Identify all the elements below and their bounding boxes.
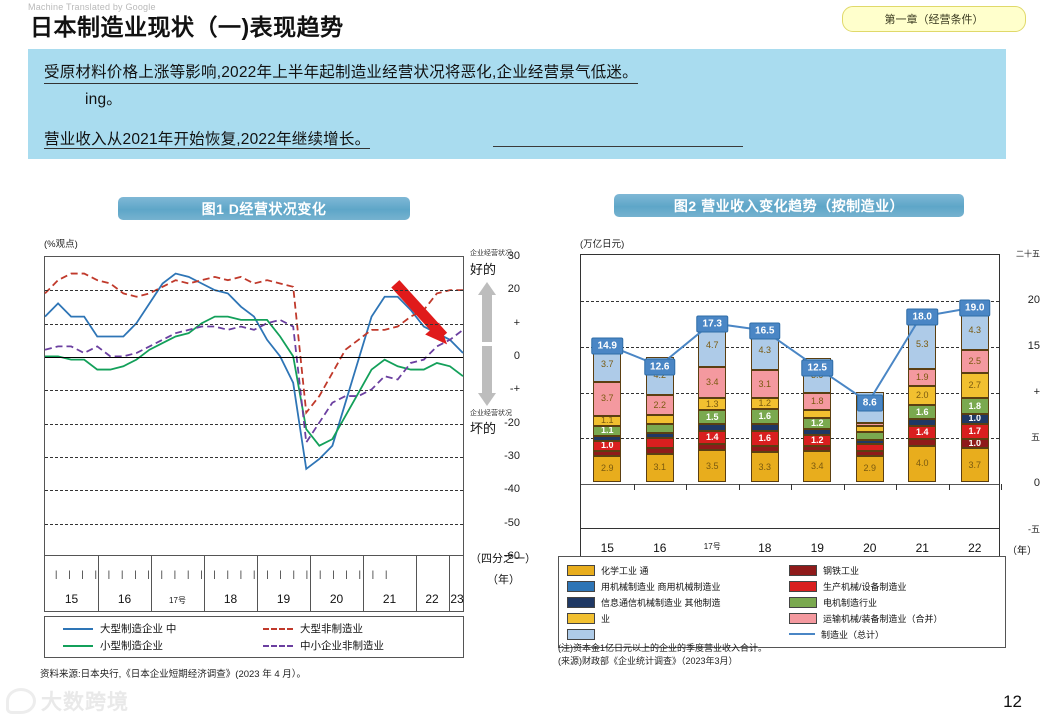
summary-underline-rule	[493, 146, 743, 147]
chart2-note-1: (注)资本金1亿日元以上的企业的季度营业收入合计。	[558, 642, 767, 655]
chart1-quarter-tick: |	[187, 569, 189, 579]
chart2-year-label: 15	[601, 541, 614, 555]
chart2-notes: (注)资本金1亿日元以上的企业的季度营业收入合计。 (来源)财政部《企业统计调查…	[558, 642, 767, 668]
legend-label: 大型制造企业 中	[100, 621, 176, 636]
summary-line-1: 受原材料价格上涨等影响,2022年上半年起制造业经营状况将恶化,企业经营景气低迷…	[44, 60, 638, 84]
chart1-year-label: 21	[383, 592, 396, 606]
chart1-quarter-tick: |	[279, 569, 281, 579]
chart1-quarter-tick: |	[121, 569, 123, 579]
chart1-gridline	[45, 324, 463, 325]
chart2-y-tick: 15	[998, 340, 1040, 352]
chart1-quarter-tick: |	[147, 569, 149, 579]
chart1-quarter-tick: |	[385, 569, 387, 579]
legend-swatch	[263, 628, 293, 630]
chart1-quarter-tick: |	[95, 569, 97, 579]
legend-swatch	[567, 565, 595, 576]
chart1-quarter-tick: |	[345, 569, 347, 579]
chart2-year-label: 16	[653, 541, 666, 555]
chart2-y-tick: 五	[998, 431, 1040, 444]
legend-label: 运输机械/装备制造业（合并）	[823, 612, 943, 625]
chart1-gridline	[45, 457, 463, 458]
chart2-legend-item: 制造业（总计）	[789, 628, 1005, 641]
chart2-year-label: 19	[811, 541, 824, 555]
chart1-year-separator	[151, 556, 152, 611]
chart1-quarter-tick: |	[332, 569, 334, 579]
chart1-year-unit: （年）	[487, 571, 520, 587]
chart1-quarter-tick: |	[266, 569, 268, 579]
chart2-year-unit: （年）	[1007, 542, 1037, 557]
chart1-y-tick: -50	[486, 517, 520, 529]
chart1-unit-label: (%观点)	[44, 236, 78, 250]
chart1-source: 资料来源:日本央行,《日本企业短期经济调查》(2023 年 4 月）。	[40, 666, 306, 680]
chart1-quarter-tick: |	[55, 569, 57, 579]
chart1-gridline	[45, 490, 463, 491]
legend-swatch	[567, 597, 595, 608]
chart1-quarter-tick: |	[293, 569, 295, 579]
chart1-quarter-tick: |	[108, 569, 110, 579]
chart1-plot-area	[44, 256, 464, 556]
chart1-x-axis: 151617号181920212223|||||||||||||||||||||…	[44, 556, 464, 612]
chart1-quarter-tick: |	[161, 569, 163, 579]
chart2-y-tick: -五	[998, 523, 1040, 536]
chart1-banner: 图1 D经营状况变化	[118, 197, 410, 220]
chart1-year-label: 17号	[169, 595, 186, 606]
chart1-gridline	[45, 390, 463, 391]
summary-box: 受原材料价格上涨等影响,2022年上半年起制造业经营状况将恶化,企业经营景气低迷…	[28, 49, 1006, 159]
watermark-icon	[6, 688, 36, 714]
chart2-y-tick: 20	[998, 294, 1040, 306]
chart1-quarter-tick: |	[319, 569, 321, 579]
chart2-unit-label: (万亿日元)	[580, 236, 624, 250]
chart2-y-tick: +	[998, 386, 1040, 398]
legend-swatch	[567, 613, 595, 624]
chart1-legend-item: 大型非制造业	[263, 621, 463, 636]
chart2-total-label: 14.9	[592, 337, 623, 354]
legend-label: 小型制造企业	[100, 638, 163, 653]
chart1-year-separator	[416, 556, 417, 611]
legend-swatch	[567, 629, 595, 640]
chart2-bar-chart: (万亿日元) 2.91.01.11.13.73.714.93.12.24.212…	[520, 228, 1040, 578]
chart2-legend-item: 业	[567, 612, 783, 625]
summary-line-3: 营业收入从2021年开始恢复,2022年继续增长。	[44, 127, 370, 149]
legend-swatch	[567, 581, 595, 592]
chart2-banner: 图2 营业收入变化趋势（按制造业）	[614, 194, 964, 217]
chart2-legend: 化学工业 通钢铁工业用机械制造业 商用机械制造业生产机械/设备制造业信息通信机械…	[558, 556, 1006, 648]
chart2-legend-item: 运输机械/装备制造业（合并）	[789, 612, 1005, 625]
chart1-year-label: 16	[118, 592, 131, 606]
legend-swatch	[789, 581, 817, 592]
chart1-quarter-tick: |	[372, 569, 374, 579]
chart1-legend-item: 中小企业非制造业	[263, 638, 463, 653]
chart2-note-2: (来源)财政部《企业统计调查》（2023年3月）	[558, 655, 767, 668]
legend-label: 钢铁工业	[823, 564, 859, 577]
arrow-down-icon	[478, 346, 496, 406]
chart1-quarter-tick: |	[134, 569, 136, 579]
legend-line-swatch	[789, 633, 815, 635]
chart1-year-separator	[257, 556, 258, 611]
summary-line-3-text: 营业收入从2021年开始恢复,2022年继续增长。	[44, 131, 370, 149]
chart1-bad-caption: 企业经营状况	[470, 410, 520, 418]
legend-label: 电机制造行业	[823, 596, 877, 609]
chart1-year-separator	[363, 556, 364, 611]
chart1-legend-item: 小型制造企业	[63, 638, 263, 653]
chart1-year-label: 15	[65, 592, 78, 606]
chart1-year-label: 19	[277, 592, 290, 606]
arrow-up-icon	[478, 282, 496, 342]
chart1-line-chart: (%观点) 3020+0-+-20-30-40-50-60 151617号181…	[0, 228, 520, 578]
chart2-total-label: 16.5	[749, 322, 780, 339]
chart1-quarter-tick: |	[81, 569, 83, 579]
chart2-total-label: 12.5	[802, 359, 833, 376]
summary-line-2: ing。	[85, 87, 122, 109]
chart2-year-label: 20	[863, 541, 876, 555]
chart2-total-label: 8.6	[857, 395, 883, 412]
chart1-direction-annotation: 企业经营状况 好的 企业经营状况 坏的	[470, 250, 520, 437]
chart1-quarter-tick: |	[240, 569, 242, 579]
legend-label: 中小企业非制造业	[300, 638, 384, 653]
chart2-legend-item: 钢铁工业	[789, 564, 1005, 577]
chart1-series-line	[45, 274, 463, 469]
legend-swatch	[63, 645, 93, 647]
legend-label: 用机械制造业 商用机械制造业	[601, 580, 721, 593]
chart2-year-label: 22	[968, 541, 981, 555]
chart1-bad-label: 坏的	[470, 418, 520, 437]
chart2-legend-item: 生产机械/设备制造业	[789, 580, 1005, 593]
chart1-quarter-tick: |	[68, 569, 70, 579]
chart1-quarter-tick: |	[306, 569, 308, 579]
legend-swatch	[789, 565, 817, 576]
chart1-year-separator	[98, 556, 99, 611]
chart2-total-label: 12.6	[644, 358, 675, 375]
chart1-quarter-tick: |	[227, 569, 229, 579]
chart2-total-label: 19.0	[959, 300, 990, 317]
chart2-year-label: 18	[758, 541, 771, 555]
page-number: 12	[1003, 692, 1022, 712]
chart1-good-caption: 企业经营状况	[470, 250, 520, 258]
chart2-plot-area: 2.91.01.11.13.73.714.93.12.24.212.63.51.…	[580, 254, 1000, 529]
chart2-legend-item: 用机械制造业 商用机械制造业	[567, 580, 783, 593]
chart1-good-label: 好的	[470, 259, 520, 278]
chart2-year-label: 21	[916, 541, 929, 555]
chart1-year-separator	[204, 556, 205, 611]
legend-label: 制造业（总计）	[821, 628, 884, 641]
chart1-quarter-tick: |	[213, 569, 215, 579]
chart2-y-tick: 0	[998, 477, 1040, 489]
chart1-quarter-tick: |	[200, 569, 202, 579]
legend-swatch	[789, 613, 817, 624]
chart1-y-tick: -30	[486, 450, 520, 462]
chart2-year-label: 17号	[704, 541, 721, 552]
chart1-gridline	[45, 524, 463, 525]
legend-swatch	[63, 628, 93, 630]
chart2-legend-item: 信息通信机械制造业 其他制造	[567, 596, 783, 609]
chart2-legend-item	[567, 628, 783, 641]
chart1-year-separator	[310, 556, 311, 611]
chart1-y-tick: -40	[486, 483, 520, 495]
chart2-total-label: 18.0	[907, 309, 938, 326]
legend-label: 业	[601, 612, 610, 625]
chart2-y-tick: 二十五	[998, 249, 1040, 260]
legend-swatch	[789, 597, 817, 608]
legend-label: 大型非制造业	[300, 621, 363, 636]
chart1-year-label: 23	[450, 592, 463, 606]
slide: Machine Translated by Google 日本制造业现状（一)表…	[0, 0, 1040, 720]
chart1-legend-item: 大型制造企业 中	[63, 621, 263, 636]
page-title: 日本制造业现状（一)表现趋势	[30, 8, 344, 42]
legend-label: 信息通信机械制造业 其他制造	[601, 596, 721, 609]
legend-label: 化学工业 通	[601, 564, 649, 577]
chart1-gridline	[45, 290, 463, 291]
chart1-series-svg	[45, 257, 463, 555]
chart1-quarter-tick: |	[359, 569, 361, 579]
chart1-gridline	[45, 424, 463, 425]
chart1-year-label: 20	[330, 592, 343, 606]
chart2-total-line-svg	[581, 255, 999, 528]
chart2-legend-item: 化学工业 通	[567, 564, 783, 577]
legend-swatch	[263, 645, 293, 647]
legend-label: 生产机械/设备制造业	[823, 580, 907, 593]
watermark-text: 大数跨境	[41, 686, 129, 716]
chart2-legend-item: 电机制造行业	[789, 596, 1005, 609]
chart1-quarter-tick: |	[174, 569, 176, 579]
chapter-badge: 第一章（经营条件）	[842, 6, 1026, 32]
chart1-year-label: 18	[224, 592, 237, 606]
chart1-quarter-tick: |	[253, 569, 255, 579]
chart1-gridline	[45, 357, 463, 358]
chart2-total-label: 17.3	[697, 315, 728, 332]
chart1-legend: 大型制造企业 中大型非制造业小型制造企业中小企业非制造业	[44, 616, 464, 658]
watermark-logo: 大数跨境	[6, 686, 129, 716]
chart1-year-label: 22	[425, 592, 438, 606]
